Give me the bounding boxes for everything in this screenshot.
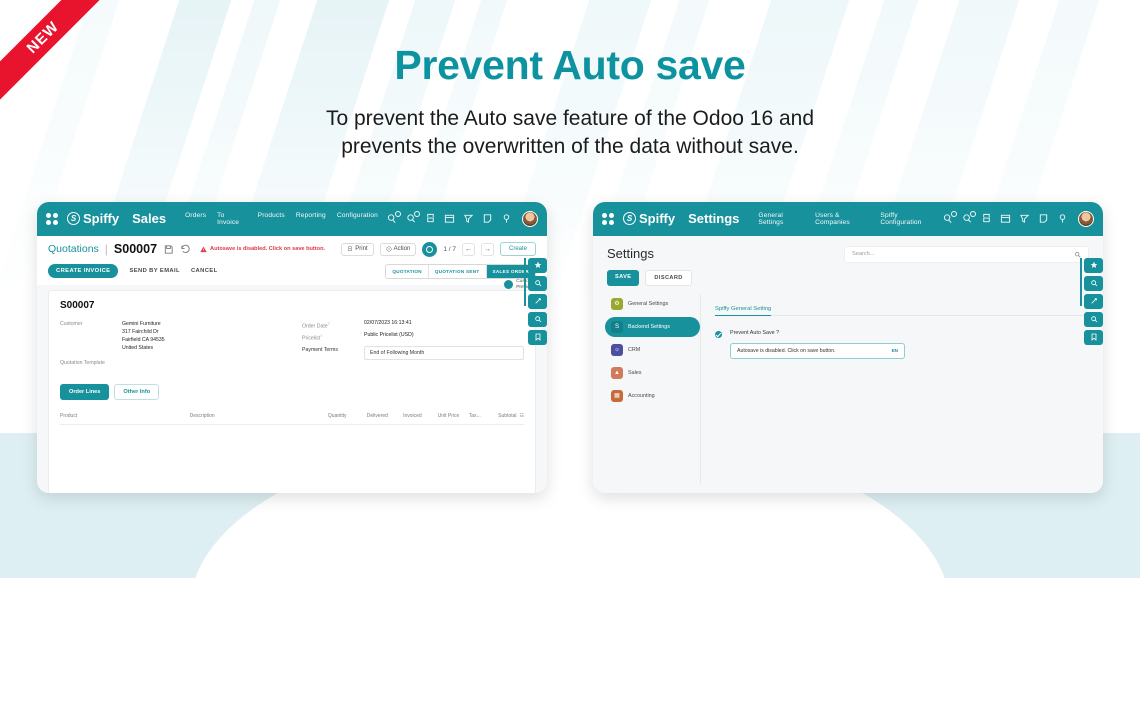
menu-item-orders[interactable]: Orders <box>185 212 206 226</box>
gear-icon: ⚙ <box>611 298 623 310</box>
subtitle-line-1: To prevent the Auto save feature of the … <box>326 107 814 130</box>
table-settings-icon[interactable]: ☷ <box>520 413 524 419</box>
zoom-icon[interactable] <box>528 312 547 327</box>
th-description: Description <box>190 413 328 419</box>
spiffy-icon: S <box>611 321 623 333</box>
field-order-date: Order Date? 02/07/2023 16:13:41 <box>302 320 524 330</box>
autosave-warning: Autosave is disabled. Click on save butt… <box>200 246 325 253</box>
spiffy-mark-icon: S <box>67 212 80 225</box>
search-placeholder: Search... <box>852 251 874 257</box>
settings-menu: General Settings Users & Companies Spiff… <box>758 212 934 226</box>
pager-counter: 1 / 7 <box>443 246 456 253</box>
field-order-date-value[interactable]: 02/07/2023 16:13:41 <box>364 320 412 330</box>
sales-menu: Orders To Invoice Products Reporting Con… <box>185 212 378 226</box>
language-badge[interactable]: EN <box>892 348 898 353</box>
sheet-wrapper: Customer Preview S00007 Customer Gemini … <box>37 285 547 493</box>
record-sheet: Customer Preview S00007 Customer Gemini … <box>48 290 536 493</box>
sidebar-item-general-settings[interactable]: ⚙ General Settings <box>605 294 700 314</box>
debug-icon[interactable] <box>1019 213 1030 224</box>
control-panel-top-row: Quotations | S00007 Autosave is disabled… <box>48 242 536 257</box>
th-subtotal: Subtotal <box>498 413 516 419</box>
crm-icon: ☼ <box>611 344 623 356</box>
save-button[interactable]: SAVE <box>607 270 639 286</box>
section-tab-spiffy-general-setting[interactable]: Spiffy General Setting <box>715 306 771 316</box>
settings-screenshot-card: S Spiffy Settings General Settings Users… <box>593 202 1103 493</box>
breadcrumb-parent[interactable]: Quotations <box>48 243 99 255</box>
debug-icon[interactable] <box>463 213 474 224</box>
note-icon[interactable] <box>1038 213 1049 224</box>
sidebar-item-crm[interactable]: ☼ CRM <box>605 340 700 360</box>
customer-preview-icon <box>504 280 513 289</box>
th-invoiced: Invoiced <box>403 413 438 419</box>
sales-right-rail <box>528 258 547 345</box>
th-delivered: Delivered <box>367 413 403 419</box>
rail-accent-line <box>524 258 526 306</box>
field-order-date-label: Order Date? <box>302 320 364 330</box>
star-icon[interactable] <box>528 258 547 273</box>
th-product: Product <box>60 413 190 419</box>
location-icon[interactable] <box>1057 213 1068 224</box>
field-quotation-template-label: Quotation Template <box>60 359 105 366</box>
settings-content: Spiffy General Setting Prevent Auto Save… <box>701 294 1103 484</box>
th-unit-price: Unit Price <box>438 413 469 419</box>
note-icon[interactable] <box>482 213 493 224</box>
prevent-auto-save-option: Prevent Auto Save ? Autosave is disabled… <box>715 330 1087 359</box>
search-icon[interactable] <box>1084 276 1103 291</box>
settings-search-box[interactable]: Search... <box>844 246 1089 263</box>
form-column-left: Customer Gemini Furniture 317 Fairchild … <box>60 320 276 369</box>
discard-button[interactable]: DISCARD <box>645 270 691 286</box>
pager-previous-button[interactable]: ← <box>462 243 475 256</box>
sidebar-item-sales[interactable]: ▲ Sales <box>605 363 700 383</box>
status-quotation-sent[interactable]: QUOTATION SENT <box>429 265 487 278</box>
bookmark-icon[interactable] <box>528 330 547 345</box>
menu-item-users-companies[interactable]: Users & Companies <box>815 212 869 226</box>
field-quotation-template: Quotation Template <box>60 359 276 366</box>
settings-navbar: S Spiffy Settings General Settings Users… <box>593 202 1103 236</box>
customer-address-2: Fairfield CA 94535 <box>122 336 165 344</box>
sidebar-item-label: Backend Settings <box>628 324 670 330</box>
app-title: Settings <box>688 211 739 226</box>
page-title: Prevent Auto save <box>0 42 1140 89</box>
apps-menu-icon[interactable] <box>46 213 58 225</box>
sales-navbar-right <box>387 211 538 227</box>
settings-navbar-right <box>943 211 1094 227</box>
prevent-auto-save-label: Prevent Auto Save ? <box>730 330 905 336</box>
messaging-icon[interactable] <box>943 213 954 224</box>
sales-navbar: S Spiffy Sales Orders To Invoice Product… <box>37 202 547 236</box>
field-pricelist: Pricelist? Public Pricelist (USD) <box>302 332 524 342</box>
control-panel-action-row: CREATE INVOICE SEND BY EMAIL CANCEL QUOT… <box>48 264 536 285</box>
form-grid: Customer Gemini Furniture 317 Fairchild … <box>60 320 524 369</box>
sales-screenshot-card: S Spiffy Sales Orders To Invoice Product… <box>37 202 547 493</box>
prevent-auto-save-group: Prevent Auto Save ? Autosave is disabled… <box>730 330 905 359</box>
new-ribbon: NEW <box>0 0 130 130</box>
send-by-email-button[interactable]: SEND BY EMAIL <box>129 268 180 274</box>
spiffy-mark-icon: S <box>623 212 636 225</box>
field-pricelist-label: Pricelist? <box>302 332 364 342</box>
sidebar-item-label: Accounting <box>628 393 655 399</box>
menu-item-configuration[interactable]: Configuration <box>337 212 378 226</box>
tab-order-lines[interactable]: Order Lines <box>60 384 109 400</box>
discard-icon[interactable] <box>180 244 191 255</box>
page-subtitle: To prevent the Auto save feature of the … <box>0 105 1140 162</box>
th-tax: Tax... <box>469 413 498 419</box>
autosave-message-input[interactable]: Autosave is disabled. Click on save butt… <box>730 343 905 359</box>
menu-item-to-invoice[interactable]: To Invoice <box>217 212 246 226</box>
order-lines-table-header: Product Description Quantity Delivered I… <box>60 413 524 425</box>
action-button-label: Action <box>394 246 411 252</box>
create-button[interactable]: Create <box>500 242 536 256</box>
print-button-label: Print <box>355 246 367 252</box>
settings-action-bar: SAVE DISCARD <box>593 263 1103 294</box>
menu-item-reporting[interactable]: Reporting <box>296 212 326 226</box>
print-icon[interactable] <box>981 213 992 224</box>
settings-page-title: Settings <box>607 246 654 261</box>
tab-other-info[interactable]: Other Info <box>114 384 159 400</box>
sales-icon: ▲ <box>611 367 623 379</box>
sidebar-item-label: Sales <box>628 370 642 376</box>
settings-sidebar: ⚙ General Settings S Backend Settings ☼ … <box>593 294 701 484</box>
pager-next-button[interactable]: → <box>481 243 494 256</box>
action-button[interactable]: Action <box>380 243 417 256</box>
bookmark-icon[interactable] <box>1084 330 1103 345</box>
search-icon[interactable] <box>528 276 547 291</box>
expand-icon[interactable] <box>528 294 547 309</box>
autosave-message-value: Autosave is disabled. Click on save butt… <box>737 348 836 354</box>
prevent-auto-save-checkbox[interactable] <box>715 331 722 338</box>
new-ribbon-label: NEW <box>0 0 120 114</box>
settings-header: Settings Search... <box>593 236 1103 263</box>
breadcrumb-separator: | <box>105 242 108 256</box>
brand-name: Spiffy <box>83 211 119 226</box>
print-icon[interactable] <box>425 213 436 224</box>
field-customer: Customer Gemini Furniture 317 Fairchild … <box>60 320 276 352</box>
search-icon[interactable] <box>1074 251 1081 258</box>
cancel-button[interactable]: CANCEL <box>191 268 218 274</box>
create-invoice-button[interactable]: CREATE INVOICE <box>48 264 118 278</box>
app-title: Sales <box>132 211 166 226</box>
payment-terms-input[interactable]: End of Following Month <box>364 346 524 360</box>
customer-name[interactable]: Gemini Furniture <box>122 320 165 328</box>
rail-accent-line <box>1080 258 1082 306</box>
field-payment-terms-label: Payment Terms <box>302 346 364 360</box>
calendar-icon[interactable] <box>444 213 455 224</box>
star-icon[interactable] <box>1084 258 1103 273</box>
subtitle-line-2: prevents the overwritten of the data wit… <box>341 135 799 158</box>
activity-icon[interactable] <box>962 213 973 224</box>
brand-logo[interactable]: S Spiffy <box>623 211 675 226</box>
sidebar-item-label: General Settings <box>628 301 668 307</box>
settings-right-rail <box>1084 258 1103 345</box>
calendar-icon[interactable] <box>1000 213 1011 224</box>
messaging-icon[interactable] <box>387 213 398 224</box>
accounting-icon: ▦ <box>611 390 623 402</box>
record-indicator-icon <box>422 242 437 257</box>
activity-icon[interactable] <box>406 213 417 224</box>
field-pricelist-value[interactable]: Public Pricelist (USD) <box>364 332 414 342</box>
field-payment-terms: Payment Terms End of Following Month <box>302 346 524 360</box>
brand-logo[interactable]: S Spiffy <box>67 211 119 226</box>
status-bar: QUOTATION QUOTATION SENT SALES ORDER <box>385 264 536 279</box>
control-panel-right: Print Action 1 / 7 ← → Create <box>341 242 536 257</box>
settings-main: ⚙ General Settings S Backend Settings ☼ … <box>593 294 1103 484</box>
menu-item-products[interactable]: Products <box>258 212 285 226</box>
breadcrumb-current: S00007 <box>114 242 157 256</box>
avatar[interactable] <box>1078 211 1094 227</box>
save-icon[interactable] <box>163 244 174 255</box>
sheet-tabs: Order Lines Other Info <box>60 384 524 400</box>
status-quotation[interactable]: QUOTATION <box>386 265 429 278</box>
sidebar-item-label: CRM <box>628 347 640 353</box>
field-customer-value[interactable]: Gemini Furniture 317 Fairchild Dr Fairfi… <box>122 320 165 352</box>
menu-item-general-settings[interactable]: General Settings <box>758 212 804 226</box>
apps-menu-icon[interactable] <box>602 213 614 225</box>
autosave-warning-text: Autosave is disabled. Click on save butt… <box>210 246 325 252</box>
record-title: S00007 <box>60 300 524 311</box>
expand-icon[interactable] <box>1084 294 1103 309</box>
customer-address-1: 317 Fairchild Dr <box>122 328 165 336</box>
brand-name: Spiffy <box>639 211 675 226</box>
th-quantity: Quantity <box>328 413 367 419</box>
settings-body: Settings Search... SAVE DISCARD ⚙ Genera… <box>593 236 1103 493</box>
hero-section: Prevent Auto save To prevent the Auto sa… <box>0 0 1140 162</box>
form-column-right: Order Date? 02/07/2023 16:13:41 Pricelis… <box>302 320 524 369</box>
print-button[interactable]: Print <box>341 243 373 256</box>
avatar[interactable] <box>522 211 538 227</box>
field-customer-label: Customer <box>60 320 122 352</box>
screenshot-cards: S Spiffy Sales Orders To Invoice Product… <box>0 202 1140 493</box>
control-panel: Quotations | S00007 Autosave is disabled… <box>37 236 547 285</box>
sidebar-item-accounting[interactable]: ▦ Accounting <box>605 386 700 406</box>
location-icon[interactable] <box>501 213 512 224</box>
customer-address-3: United States <box>122 344 165 352</box>
zoom-icon[interactable] <box>1084 312 1103 327</box>
sidebar-item-backend-settings[interactable]: S Backend Settings <box>605 317 700 337</box>
menu-item-spiffy-configuration[interactable]: Spiffy Configuration <box>880 212 934 226</box>
